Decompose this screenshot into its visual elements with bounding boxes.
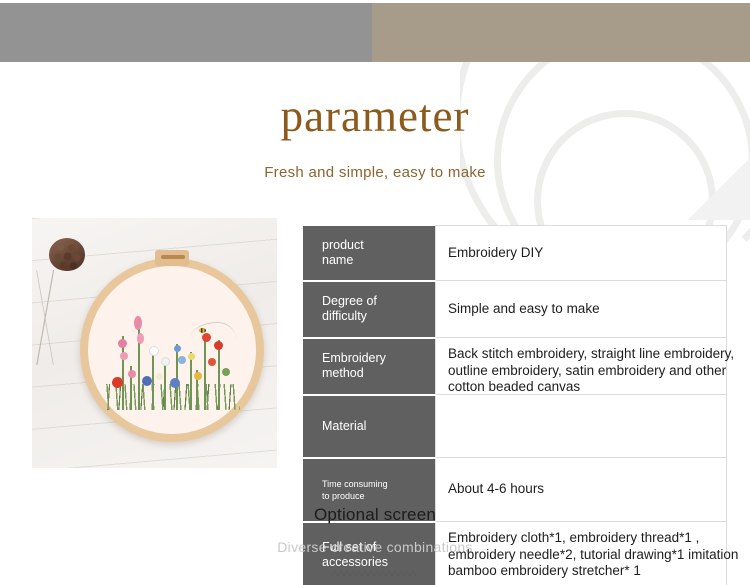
bottom-section: Optional screen Diverse creative combina… — [0, 505, 750, 583]
bee-trail — [190, 322, 236, 339]
zigzag-divider-icon — [332, 569, 418, 578]
optional-screen-title: Optional screen — [0, 505, 750, 525]
label-line: name — [322, 253, 353, 267]
spec-value-embroidery-method: Back stitch embroidery, straight line em… — [436, 338, 727, 395]
page-title: parameter — [0, 90, 750, 142]
label-line: Time consuming — [322, 479, 388, 489]
label-line: Embroidery — [322, 351, 386, 365]
spec-value-product-name: Embroidery DIY — [436, 226, 727, 281]
label-line: product — [322, 238, 364, 252]
optional-screen-subtitle: Diverse creative combinations — [0, 539, 750, 555]
spec-label-embroidery-method: Embroidery method — [303, 338, 436, 395]
hoop-screw — [155, 250, 189, 266]
banner-block-tan — [372, 3, 750, 62]
label-line: to produce — [322, 491, 365, 501]
header-block: parameter Fresh and simple, easy to make — [0, 90, 750, 181]
label-line: difficulty — [322, 309, 367, 323]
label-line: Degree of — [322, 294, 377, 308]
label-line: Material — [322, 419, 366, 433]
page-subtitle: Fresh and simple, easy to make — [0, 164, 750, 181]
embroidered-flowers — [104, 306, 240, 410]
table-row: Degree of difficulty Simple and easy to … — [303, 281, 727, 338]
spec-value-embroidery-method-text: Back stitch embroidery, straight line em… — [448, 346, 748, 396]
spec-value-difficulty: Simple and easy to make — [436, 281, 727, 338]
table-row: Embroidery method Back stitch embroidery… — [303, 338, 727, 395]
top-banner — [0, 3, 750, 62]
product-photo — [32, 218, 277, 468]
spec-label-material: Material — [303, 395, 436, 458]
label-line: method — [322, 366, 364, 380]
dried-sprig-decoration — [34, 270, 58, 365]
product-detail-page: parameter Fresh and simple, easy to make — [0, 0, 750, 585]
banner-block-gray — [0, 3, 372, 62]
spec-label-difficulty: Degree of difficulty — [303, 281, 436, 338]
embroidery-hoop — [80, 258, 264, 442]
table-row: Material — [303, 395, 727, 458]
pinecone-decoration — [49, 238, 85, 271]
table-row: product name Embroidery DIY — [303, 226, 727, 281]
spec-label-product-name: product name — [303, 226, 436, 281]
spec-value-material — [436, 395, 727, 458]
